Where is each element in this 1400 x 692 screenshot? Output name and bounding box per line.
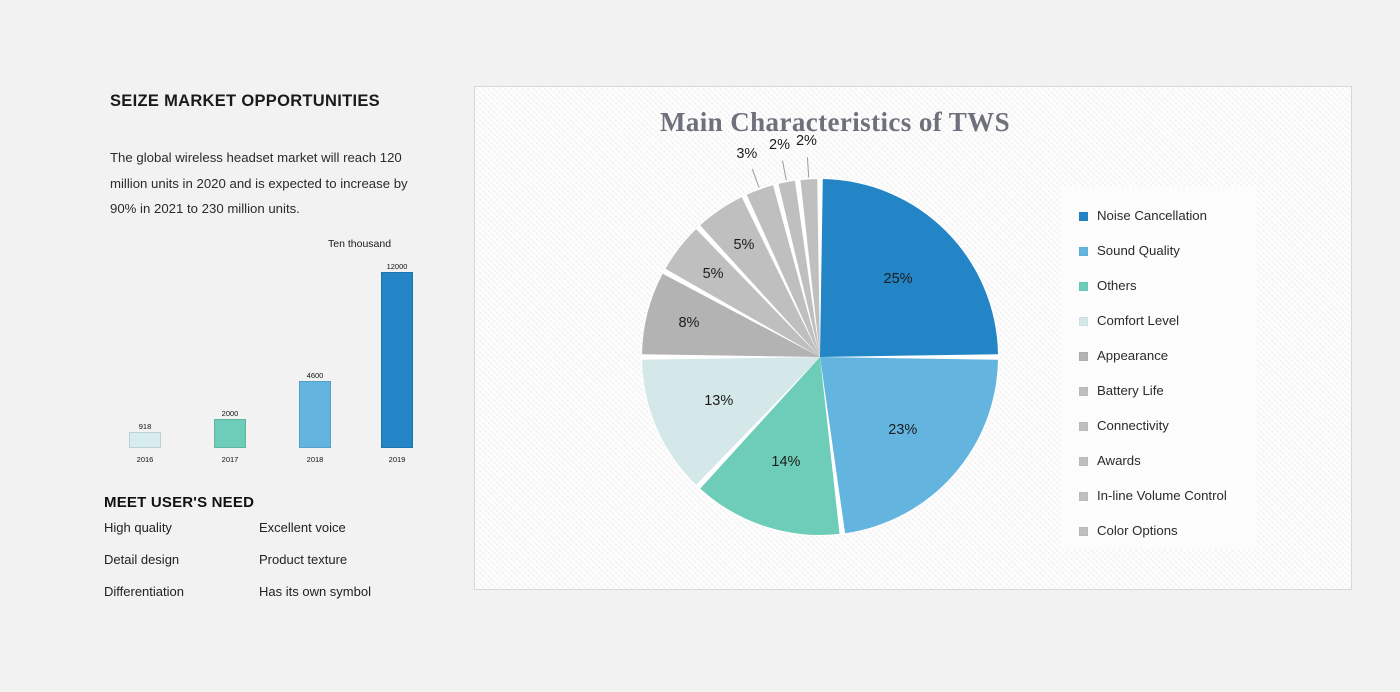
pie-slice-value-label: 14% — [771, 454, 800, 470]
user-need-item: Product texture — [259, 552, 434, 567]
page-title: SEIZE MARKET OPPORTUNITIES — [110, 92, 380, 111]
legend-item[interactable]: Connectivity — [1079, 418, 1169, 434]
pie-slice-value-label: 25% — [884, 271, 913, 287]
bar-category-label: 2019 — [362, 455, 432, 464]
bar-column: 9182016 — [110, 236, 180, 466]
pie-chart: 25%23%14%13%8%5%5%3%2%2% — [555, 157, 1115, 577]
bar-value-label: 2000 — [222, 410, 239, 418]
user-need-item: Detail design — [104, 552, 259, 567]
legend-item[interactable]: Battery Life — [1079, 383, 1164, 399]
pie-slice-value-label: 8% — [678, 315, 699, 331]
legend-item[interactable]: In-line Volume Control — [1079, 488, 1227, 504]
legend-swatch-icon — [1079, 492, 1088, 501]
chart-legend: Noise CancellationSound QualityOthersCom… — [1061, 186, 1256, 549]
user-need-item: Differentiation — [104, 584, 259, 599]
user-need-item: Has its own symbol — [259, 584, 434, 599]
legend-item-label: Appearance — [1097, 349, 1168, 362]
legend-swatch-icon — [1079, 317, 1088, 326]
bar-category-label: 2016 — [110, 455, 180, 464]
bar-column: 46002018 — [280, 236, 350, 466]
bar-chart: Ten thousand 918201620002017460020181200… — [100, 236, 420, 466]
legend-swatch-icon — [1079, 247, 1088, 256]
bar-rect — [129, 432, 161, 448]
bar-rect — [299, 381, 331, 448]
chart-panel: Main Characteristics of TWS 25%23%14%13%… — [474, 86, 1352, 590]
pie-slice — [820, 179, 998, 357]
pie-chart-svg — [555, 157, 1115, 577]
meet-user-need-heading: MEET USER'S NEED — [104, 494, 254, 511]
chart-title: Main Characteristics of TWS — [475, 107, 1195, 138]
bar-value-label: 4600 — [307, 372, 324, 380]
pie-leader-line — [783, 161, 787, 181]
left-column: SEIZE MARKET OPPORTUNITIES The global wi… — [0, 0, 470, 692]
legend-item-label: In-line Volume Control — [1097, 489, 1227, 502]
user-needs-grid: High qualityExcellent voiceDetail design… — [104, 520, 434, 599]
legend-item-label: Sound Quality — [1097, 244, 1180, 257]
bar-category-label: 2018 — [280, 455, 350, 464]
legend-item-label: Connectivity — [1097, 419, 1169, 432]
legend-item[interactable]: Appearance — [1079, 348, 1168, 364]
bar-column: 120002019 — [362, 236, 432, 466]
legend-item[interactable]: Sound Quality — [1079, 243, 1180, 259]
pie-leader-line — [807, 157, 808, 177]
bar-value-label: 12000 — [387, 263, 408, 271]
legend-swatch-icon — [1079, 387, 1088, 396]
market-description-paragraph: The global wireless headset market will … — [110, 145, 420, 222]
legend-item-label: Battery Life — [1097, 384, 1164, 397]
legend-item[interactable]: Awards — [1079, 453, 1141, 469]
legend-swatch-icon — [1079, 212, 1088, 221]
legend-item[interactable]: Others — [1079, 278, 1137, 294]
pie-slice-value-label: 2% — [769, 137, 790, 153]
legend-swatch-icon — [1079, 422, 1088, 431]
pie-slice-value-label: 5% — [733, 237, 754, 253]
pie-slice — [820, 357, 998, 533]
pie-leader-line — [752, 169, 759, 188]
pie-slice-value-label: 2% — [796, 133, 817, 149]
legend-swatch-icon — [1079, 352, 1088, 361]
legend-item[interactable]: Comfort Level — [1079, 313, 1179, 329]
legend-item-label: Comfort Level — [1097, 314, 1179, 327]
legend-item[interactable]: Color Options — [1079, 523, 1178, 539]
legend-swatch-icon — [1079, 282, 1088, 291]
legend-swatch-icon — [1079, 527, 1088, 536]
user-need-item: Excellent voice — [259, 520, 434, 535]
pie-slice-value-label: 5% — [703, 266, 724, 282]
legend-item-label: Noise Cancellation — [1097, 209, 1207, 222]
bar-column: 20002017 — [195, 236, 265, 466]
legend-swatch-icon — [1079, 457, 1088, 466]
bar-category-label: 2017 — [195, 455, 265, 464]
legend-item-label: Color Options — [1097, 524, 1178, 537]
bar-rect — [381, 272, 413, 448]
pie-slice-value-label: 23% — [888, 422, 917, 438]
bar-value-label: 918 — [139, 423, 152, 431]
user-need-item: High quality — [104, 520, 259, 535]
bar-rect — [214, 419, 246, 448]
legend-item-label: Others — [1097, 279, 1137, 292]
pie-slices — [641, 178, 999, 536]
legend-item-label: Awards — [1097, 454, 1141, 467]
pie-slice-value-label: 13% — [704, 393, 733, 409]
legend-item[interactable]: Noise Cancellation — [1079, 208, 1207, 224]
pie-slice-value-label: 3% — [736, 146, 757, 162]
